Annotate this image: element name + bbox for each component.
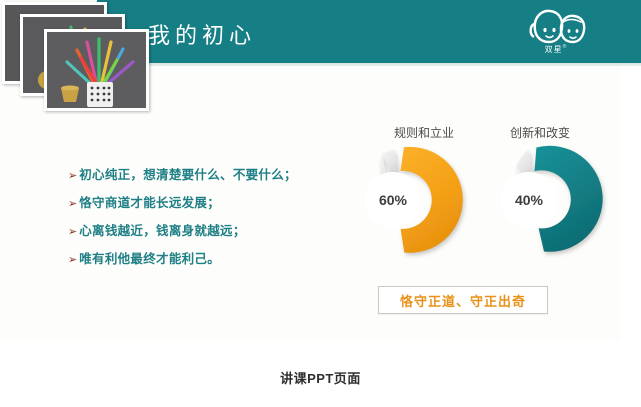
donut-chart-group: 规则和立业 创新和改变 60% 40% (332, 124, 622, 284)
list-item: ➢ 恪守商道才能长远发展； (68, 192, 333, 211)
bullet-text: 心离钱越近，钱离身就越远； (79, 220, 245, 239)
bullet-arrow-icon: ➢ (68, 255, 77, 266)
callout-text: 恪守正道、守正出奇 (400, 291, 526, 310)
bullet-arrow-icon: ➢ (68, 171, 77, 182)
photo-thumbnail-front (44, 29, 149, 111)
presentation-slide: 我的初心 双星® ➢ 初心纯 (0, 0, 641, 407)
donut-value-rules: 60% (363, 192, 423, 208)
list-item: ➢ 唯有利他最终才能利己。 (68, 248, 333, 267)
bullet-arrow-icon: ➢ (68, 227, 77, 238)
bullet-text: 初心纯正，想清楚要什么、不要什么； (79, 164, 297, 183)
watermark-text: 讲课PPT页面 (0, 368, 641, 387)
photo-image-front (47, 32, 146, 108)
list-item: ➢ 心离钱越近，钱离身就越远； (68, 220, 333, 239)
donut-label-innovation: 创新和改变 (510, 124, 570, 141)
callout-box: 恪守正道、守正出奇 (378, 286, 548, 314)
logo-brand-label: 双星 (545, 45, 563, 54)
photo-artwork-front (47, 32, 146, 108)
donut-label-rules: 规则和立业 (394, 124, 454, 141)
donut-value-innovation: 40% (499, 192, 559, 208)
list-item: ➢ 初心纯正，想清楚要什么、不要什么； (68, 164, 333, 183)
bullet-text: 恪守商道才能长远发展； (79, 192, 220, 211)
page-title: 我的初心 (148, 18, 256, 50)
bullet-text: 唯有利他最终才能利己。 (79, 248, 220, 267)
bullet-arrow-icon: ➢ (68, 199, 77, 210)
logo-brand-text: 双星® (525, 44, 587, 55)
bullet-list: ➢ 初心纯正，想清楚要什么、不要什么； ➢ 恪守商道才能长远发展； ➢ 心离钱越… (68, 164, 333, 276)
registered-mark-icon: ® (563, 44, 568, 50)
